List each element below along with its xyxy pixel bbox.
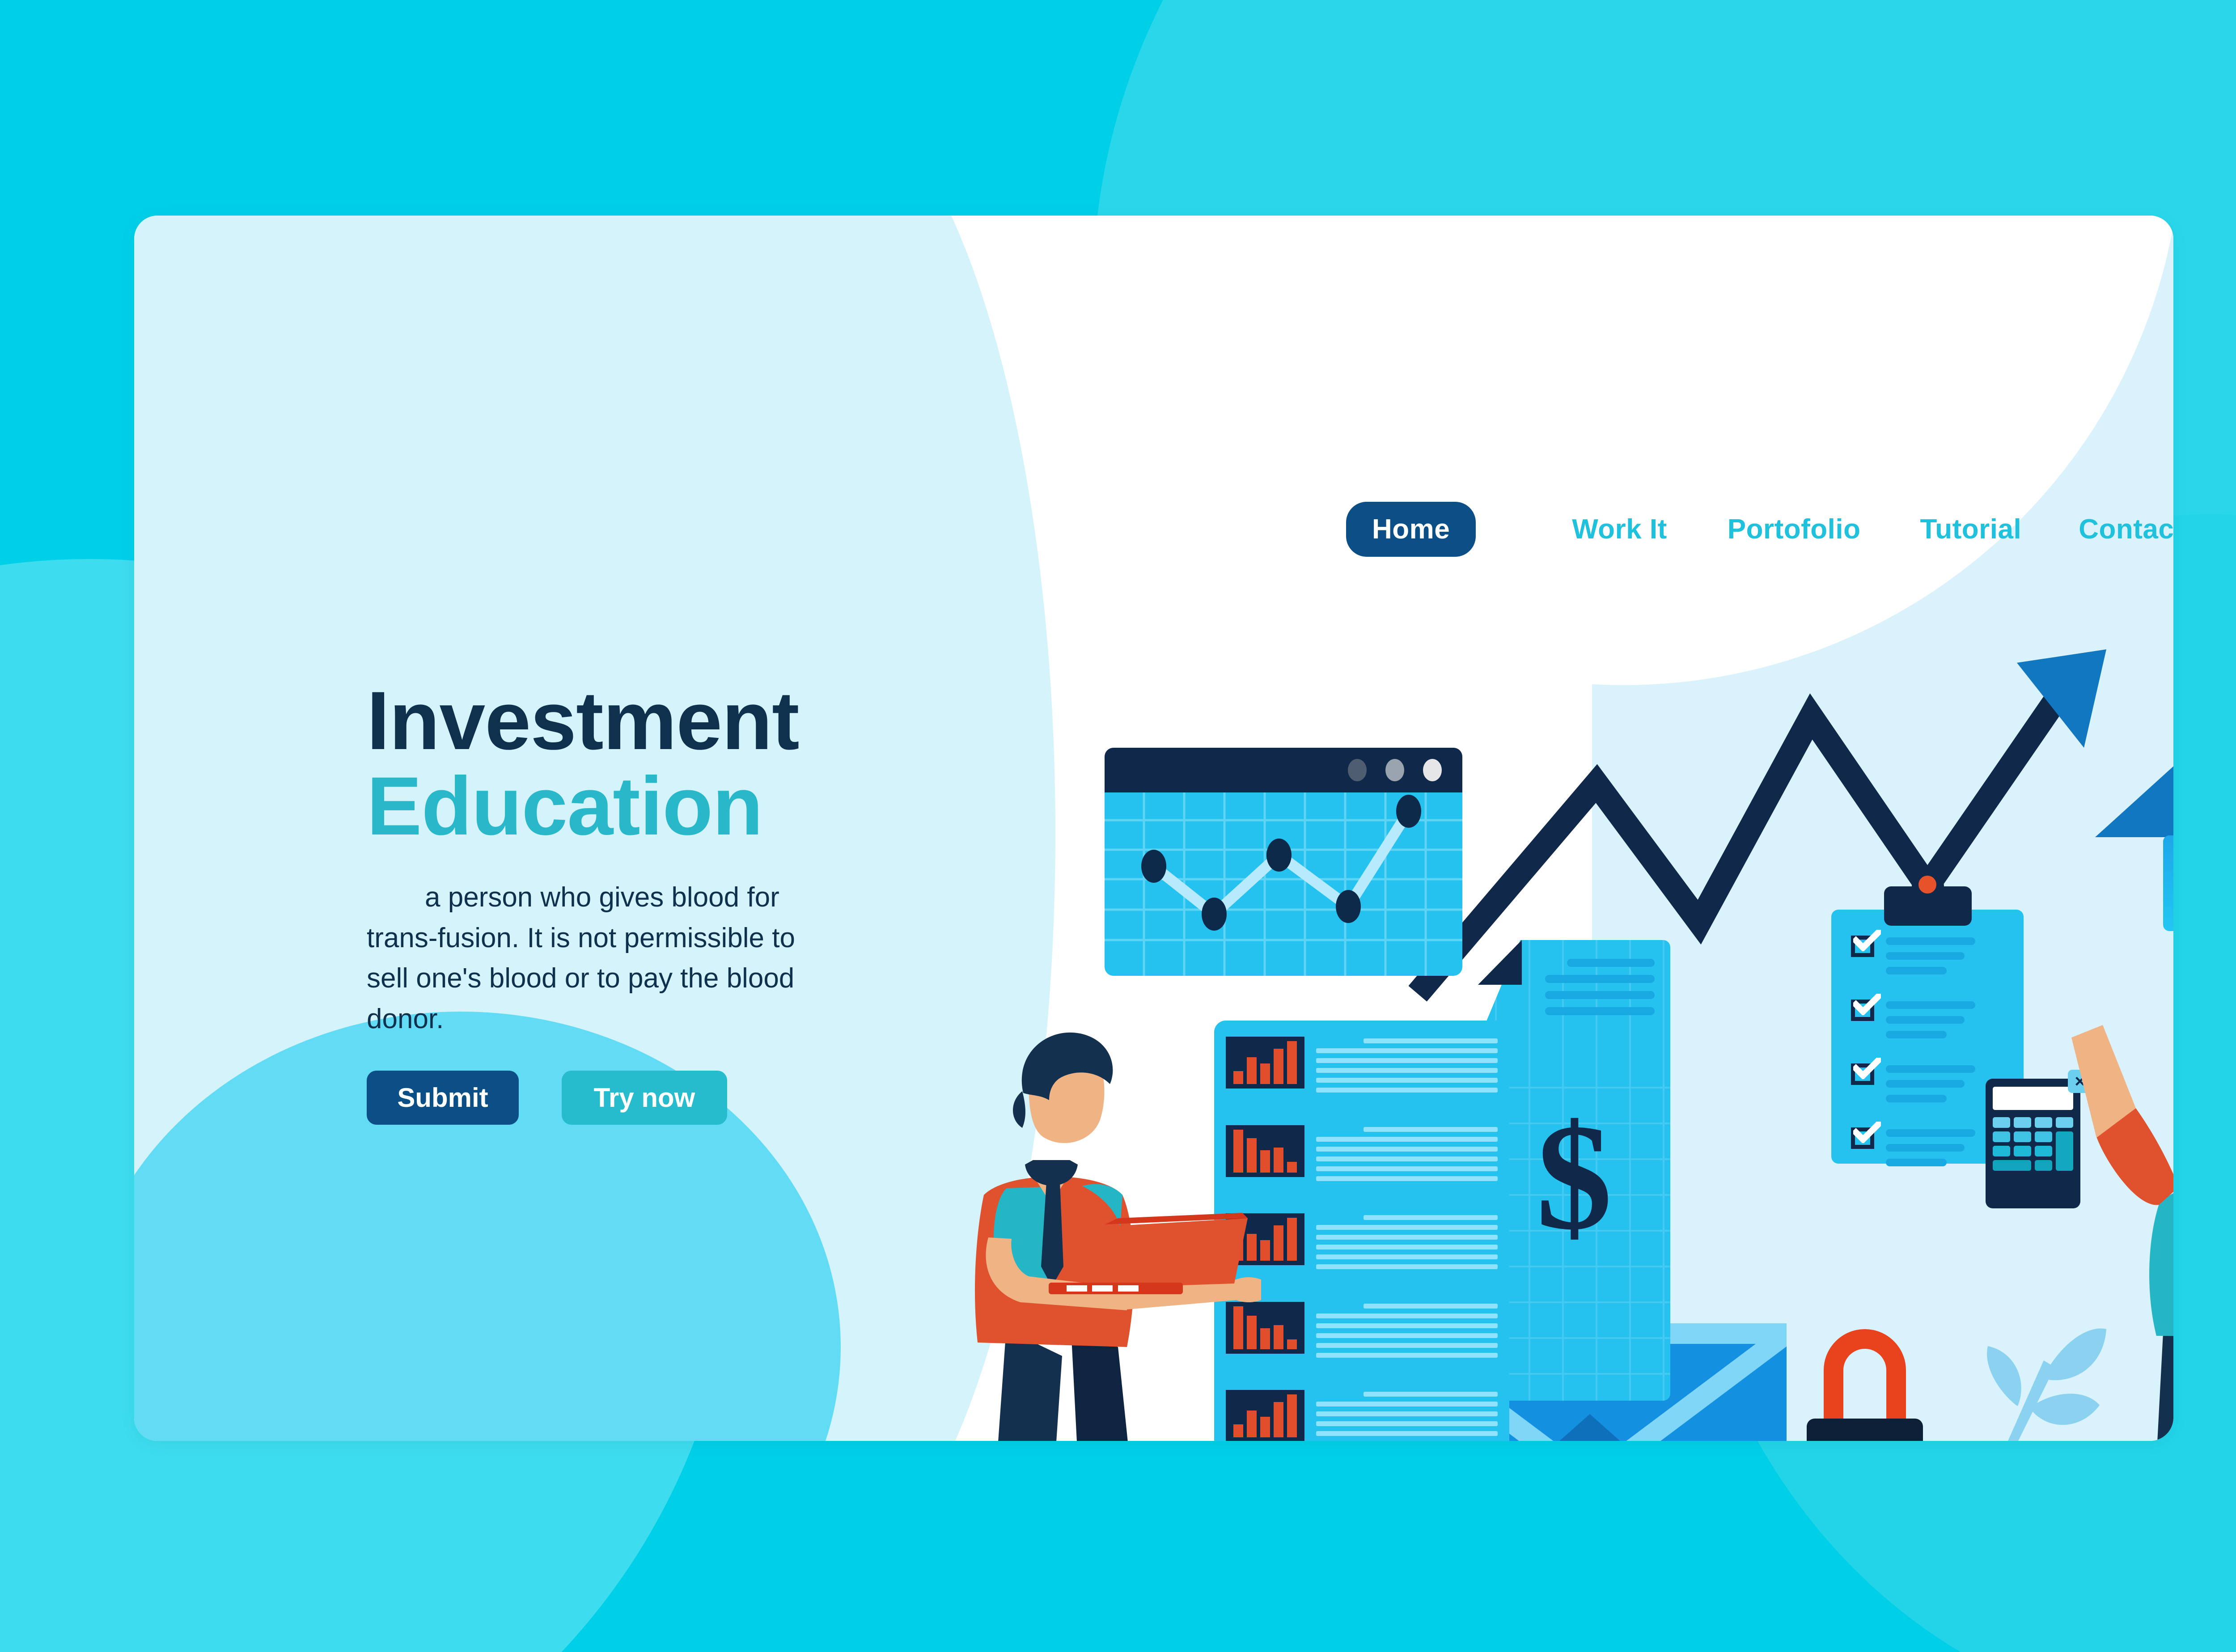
report-text-lines: [1316, 1213, 1498, 1274]
checklist-item[interactable]: [1851, 936, 2024, 982]
calculator-key[interactable]: [2014, 1131, 2031, 1142]
report-text-lines: [1316, 1037, 1498, 1097]
checklist-text-lines: [1886, 936, 1975, 982]
calculator-key[interactable]: [1993, 1131, 2010, 1142]
report-row: [1226, 1213, 1498, 1279]
padlock-body: [1807, 1419, 1923, 1441]
report-row: [1226, 1390, 1498, 1441]
checkbox-checked-icon[interactable]: [1851, 1063, 1874, 1085]
up-arrow-icon: [2095, 730, 2173, 837]
report-text-lines: [1316, 1302, 1498, 1363]
chart-window[interactable]: [1105, 748, 1462, 976]
report-row: [1226, 1037, 1498, 1103]
checkbox-checked-icon[interactable]: [1851, 1000, 1874, 1021]
report-text-lines: [1316, 1390, 1498, 1441]
calculator-key[interactable]: [2035, 1160, 2052, 1171]
calculator-key[interactable]: [2035, 1117, 2052, 1128]
person-holding-badge: [2053, 1016, 2173, 1441]
checklist-text-lines: [1886, 1063, 1975, 1110]
checkbox-checked-icon[interactable]: [1851, 936, 1874, 957]
hero-button-group: Submit Try now: [367, 1071, 894, 1125]
calculator-key[interactable]: [2035, 1131, 2052, 1142]
close-dot-icon[interactable]: [1423, 759, 1442, 781]
calculator-key[interactable]: [1993, 1117, 2010, 1128]
clipboard-red-dot-icon: [1918, 876, 1936, 894]
line-chart-plot: [1105, 792, 1462, 976]
checkbox-checked-icon[interactable]: [1851, 1127, 1874, 1149]
growth-badge: [2095, 730, 2173, 985]
checklist-item[interactable]: [1851, 1000, 2024, 1046]
nav-item-home[interactable]: Home: [1346, 502, 1476, 557]
avatar-card: [2163, 835, 2173, 931]
document-text-lines: [1545, 959, 1655, 1023]
window-title-bar: [1105, 748, 1462, 792]
checklist-text-lines: [1886, 1000, 1975, 1046]
nav-item-portofolio[interactable]: Portofolio: [1728, 513, 1861, 545]
submit-button[interactable]: Submit: [367, 1071, 519, 1125]
main-navigation: Home Work It Portofolio Tutorial Contact…: [1346, 502, 2173, 557]
report-row: [1226, 1125, 1498, 1191]
calculator-key[interactable]: [2014, 1117, 2031, 1128]
page-title: Investment: [367, 681, 894, 762]
hero-section: Investment Education a person who gives …: [367, 681, 894, 1125]
checklist-text-lines: [1886, 1127, 1975, 1173]
calculator-key[interactable]: [1993, 1146, 2010, 1156]
nav-item-contact-us[interactable]: Contact Us: [2079, 513, 2173, 545]
nav-item-tutorial[interactable]: Tutorial: [1920, 513, 2021, 545]
nav-item-work-it[interactable]: Work It: [1572, 513, 1667, 545]
landing-page-card: $: [134, 216, 2173, 1441]
calculator-key[interactable]: [2035, 1146, 2052, 1156]
report-text-lines: [1316, 1125, 1498, 1186]
padlock-icon: [1807, 1329, 1923, 1441]
page-subtitle: Education: [367, 764, 894, 849]
maximize-dot-icon[interactable]: [1385, 759, 1404, 781]
hero-description: a person who gives blood for trans-fusio…: [367, 877, 818, 1039]
calculator-key[interactable]: [2014, 1146, 2031, 1156]
try-now-button[interactable]: Try now: [562, 1071, 727, 1125]
document-folded-corner: [1478, 940, 1522, 985]
calculator-zero-key[interactable]: [1993, 1160, 2031, 1171]
person-with-laptop: [894, 1016, 1261, 1441]
minimize-dot-icon[interactable]: [1348, 759, 1367, 781]
report-row: [1226, 1302, 1498, 1368]
